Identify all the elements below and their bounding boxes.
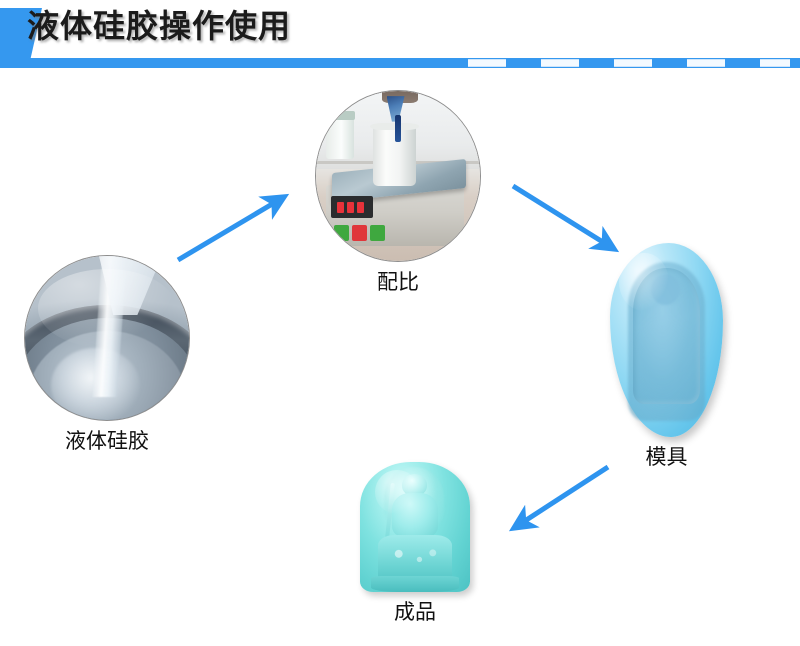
liquid-silicone-photo [24,255,190,421]
photo-layer-highlight [38,269,176,348]
arrow-mold-to-product [514,467,608,528]
arrow-silicone-to-mixing [178,197,284,260]
mold-photo [610,243,723,437]
rule-gap [468,59,506,67]
photo-layer-scale-digit [347,202,354,214]
caption-finished-product: 成品 [360,598,470,628]
caption-mixing-ratio: 配比 [315,268,481,298]
rule-gap [541,59,579,67]
caption-mold: 模具 [610,443,723,473]
arrow-mixing-to-mold [513,186,614,249]
page-title: 液体硅胶操作使用 [27,4,291,48]
caption-liquid-silicone: 液体硅胶 [24,427,190,457]
photo-layer-side-jar-lid [324,111,355,120]
rule-gap [614,59,652,67]
photo-layer-scale-button [352,225,367,240]
page-header: 液体硅胶操作使用 [0,0,800,72]
flow-node-mixing-ratio: 配比 [315,90,481,298]
header-divider-rule [0,58,800,68]
slide-canvas: 液体硅胶操作使用 液体硅胶 [0,0,800,646]
photo-layer-gloss [619,253,669,311]
photo-layer-pigment-stream [395,115,402,142]
finished-product-photo [360,462,470,592]
photo-layer-scale-button [334,225,349,240]
photo-layer-figure-base [371,576,459,592]
photo-layer-gloss [375,470,419,514]
photo-layer-figure-relief [378,535,453,582]
photo-layer-scale-digit [337,202,344,214]
photo-layer-side-jar [326,115,354,159]
rule-gap [687,59,725,67]
flow-node-mold: 模具 [610,243,723,473]
photo-layer-scale-digit [357,202,364,214]
mixing-ratio-photo [315,90,481,262]
flow-node-finished-product: 成品 [360,462,470,628]
rule-gap [760,59,790,67]
photo-layer-scale-button [370,225,385,240]
flow-node-liquid-silicone: 液体硅胶 [24,255,190,457]
